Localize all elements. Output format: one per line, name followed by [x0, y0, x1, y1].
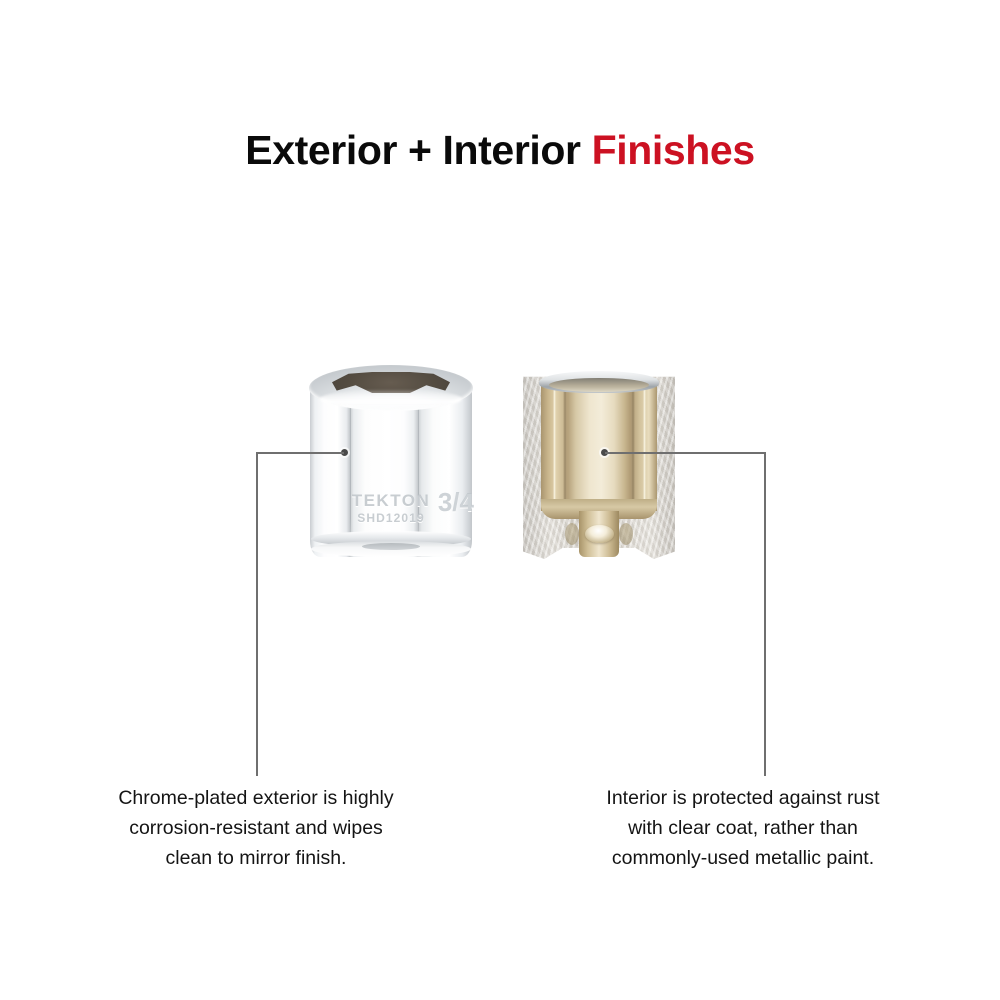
leader-vertical-segment	[764, 452, 766, 776]
caption-line: with clear coat, rather than	[563, 813, 923, 843]
interior-flute-ridge	[631, 379, 635, 511]
drive-side-recess	[565, 523, 579, 545]
interior-flute-highlight	[553, 379, 556, 511]
title-main-text: Exterior + Interior	[245, 127, 580, 173]
product-stage: TEKTON SHD12019 3/4	[0, 340, 1000, 590]
infographic-canvas: Exterior + Interior Finishes TEKTON SHD1…	[0, 0, 1000, 1000]
page-title: Exterior + Interior Finishes	[0, 126, 1000, 174]
interior-flute-highlight	[643, 379, 646, 511]
cutaway-rim-inner	[549, 378, 649, 392]
clear-coat-interior	[541, 379, 657, 511]
exterior-callout-caption: Chrome-plated exterior is highly corrosi…	[76, 783, 436, 873]
socket-bottom-reflection	[362, 543, 420, 550]
chrome-socket-image: TEKTON SHD12019 3/4	[310, 365, 472, 563]
caption-line: commonly-used metallic paint.	[563, 843, 923, 873]
leader-vertical-segment	[256, 452, 258, 776]
drive-side-recess	[619, 523, 633, 545]
caption-line: clean to mirror finish.	[76, 843, 436, 873]
leader-horizontal-segment	[256, 452, 344, 454]
caption-line: corrosion-resistant and wipes	[76, 813, 436, 843]
title-accent-text: Finishes	[592, 127, 755, 173]
ball-detent	[585, 525, 614, 543]
interior-flute-ridge	[563, 379, 567, 511]
caption-line: Chrome-plated exterior is highly	[76, 783, 436, 813]
caption-line: Interior is protected against rust	[563, 783, 923, 813]
leader-horizontal-segment	[605, 452, 766, 454]
socket-rim-highlight	[320, 389, 462, 409]
cutaway-socket-image	[523, 365, 675, 563]
socket-size-engraving: 3/4	[438, 487, 474, 518]
interior-callout-caption: Interior is protected against rust with …	[563, 783, 923, 873]
